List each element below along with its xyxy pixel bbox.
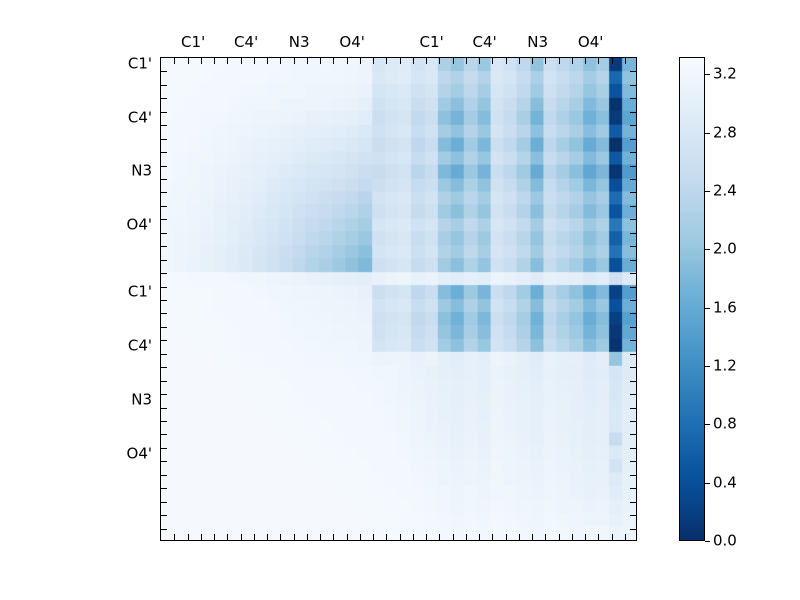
x-tick [479, 58, 480, 64]
y-tick [161, 246, 167, 247]
y-tick [161, 381, 167, 382]
x-tick [280, 534, 281, 540]
colorbar-tick-label: 2.8 [713, 125, 737, 140]
y-tick [630, 125, 636, 126]
x-tick [598, 58, 599, 64]
y-tick [630, 327, 636, 328]
y-tick-label: C1' [108, 56, 152, 71]
y-tick [630, 313, 636, 314]
y-tick [630, 219, 636, 220]
y-tick-label: N3 [108, 392, 152, 407]
x-tick [241, 58, 242, 64]
y-tick [630, 139, 636, 140]
colorbar-tick-label: 2.0 [713, 242, 737, 257]
x-tick [386, 58, 387, 64]
x-tick [492, 58, 493, 64]
x-tick [585, 58, 586, 64]
y-tick [630, 179, 636, 180]
x-tick [519, 534, 520, 540]
y-tick [630, 152, 636, 153]
x-tick [333, 58, 334, 64]
y-tick [161, 287, 167, 288]
x-tick [347, 58, 348, 64]
x-tick [227, 534, 228, 540]
x-tick [413, 534, 414, 540]
y-tick [630, 367, 636, 368]
x-tick [241, 534, 242, 540]
y-tick [161, 71, 167, 72]
x-tick-label: C4' [234, 35, 258, 50]
y-tick [630, 421, 636, 422]
y-tick [630, 287, 636, 288]
x-tick [333, 534, 334, 540]
colorbar-tick [705, 249, 710, 250]
x-tick-label: N3 [289, 35, 310, 50]
x-tick [214, 534, 215, 540]
x-tick [386, 534, 387, 540]
y-tick [630, 448, 636, 449]
colorbar-tick [705, 483, 710, 484]
colorbar-tick-label: 2.4 [713, 184, 737, 199]
y-tick-label: O4' [108, 446, 152, 461]
y-tick [161, 354, 167, 355]
x-tick [307, 534, 308, 540]
x-tick [294, 534, 295, 540]
y-tick [161, 327, 167, 328]
x-tick [360, 58, 361, 64]
y-tick [161, 98, 167, 99]
y-tick [161, 206, 167, 207]
colorbar-tick [705, 191, 710, 192]
y-tick [161, 233, 167, 234]
y-tick [630, 488, 636, 489]
y-tick [630, 260, 636, 261]
y-tick [161, 461, 167, 462]
colorbar-tick [705, 541, 710, 542]
x-tick-label: C1' [181, 35, 205, 50]
x-tick [347, 534, 348, 540]
y-tick [630, 502, 636, 503]
y-tick-label: O4' [108, 218, 152, 233]
y-tick [630, 381, 636, 382]
y-tick [161, 529, 167, 530]
heatmap-image[interactable] [161, 58, 636, 540]
x-tick [320, 58, 321, 64]
y-tick-label: C4' [108, 110, 152, 125]
y-tick [161, 421, 167, 422]
y-tick [630, 71, 636, 72]
x-tick [612, 534, 613, 540]
x-tick [373, 534, 374, 540]
x-tick [174, 58, 175, 64]
colorbar-tick-label: 3.2 [713, 67, 737, 82]
y-tick [161, 85, 167, 86]
y-tick [161, 260, 167, 261]
y-tick [161, 434, 167, 435]
colorbar-tick [705, 308, 710, 309]
x-tick [267, 58, 268, 64]
y-tick [161, 515, 167, 516]
colorbar-tick-label: 0.0 [713, 534, 737, 549]
x-tick [400, 58, 401, 64]
x-tick [519, 58, 520, 64]
x-tick [174, 534, 175, 540]
y-tick [161, 273, 167, 274]
x-tick [545, 58, 546, 64]
x-tick [585, 534, 586, 540]
colorbar-gradient [680, 58, 704, 540]
colorbar-tick-label: 1.2 [713, 359, 737, 374]
colorbar-gradient-box [679, 57, 705, 541]
y-tick [630, 85, 636, 86]
x-tick-label: O4' [339, 35, 364, 50]
x-tick [254, 534, 255, 540]
y-tick [161, 192, 167, 193]
y-tick [161, 488, 167, 489]
x-tick [360, 534, 361, 540]
y-tick [630, 206, 636, 207]
y-tick [161, 367, 167, 368]
x-tick-label: C1' [420, 35, 444, 50]
y-tick [161, 166, 167, 167]
x-tick [373, 58, 374, 64]
x-tick [572, 58, 573, 64]
x-tick [559, 58, 560, 64]
y-tick [161, 475, 167, 476]
y-tick [161, 179, 167, 180]
x-tick [532, 58, 533, 64]
colorbar-tick [705, 366, 710, 367]
x-tick [227, 58, 228, 64]
y-tick [161, 502, 167, 503]
x-tick [426, 58, 427, 64]
y-tick [630, 529, 636, 530]
x-tick-label: N3 [527, 35, 548, 50]
y-tick [630, 273, 636, 274]
y-tick [161, 394, 167, 395]
x-tick [267, 534, 268, 540]
x-tick [201, 534, 202, 540]
x-tick [466, 534, 467, 540]
y-tick [630, 475, 636, 476]
x-tick [188, 58, 189, 64]
y-tick [630, 98, 636, 99]
y-tick [630, 192, 636, 193]
colorbar-tick-label: 0.8 [713, 417, 737, 432]
y-tick [630, 408, 636, 409]
colorbar-tick [705, 133, 710, 134]
heatmap-figure: C1'C4'N3O4'C1'C4'N3O4' C1'C4'N3O4'C1'C4'… [0, 0, 800, 600]
y-tick [161, 139, 167, 140]
x-tick [506, 534, 507, 540]
x-tick [294, 58, 295, 64]
y-tick [630, 354, 636, 355]
x-tick [466, 58, 467, 64]
colorbar-tick [705, 424, 710, 425]
x-tick [572, 534, 573, 540]
x-tick-label: O4' [578, 35, 603, 50]
x-tick [214, 58, 215, 64]
x-tick-label: C4' [473, 35, 497, 50]
colorbar-tick [705, 74, 710, 75]
x-tick [413, 58, 414, 64]
colorbar[interactable]: 0.00.40.81.21.62.02.42.83.2 [679, 57, 705, 541]
x-tick [280, 58, 281, 64]
y-tick [630, 112, 636, 113]
y-tick-label: C1' [108, 285, 152, 300]
x-tick [254, 58, 255, 64]
y-tick [630, 233, 636, 234]
x-tick [479, 534, 480, 540]
colorbar-tick-label: 1.6 [713, 300, 737, 315]
x-tick [453, 58, 454, 64]
y-tick-label: C4' [108, 339, 152, 354]
y-tick [161, 340, 167, 341]
colorbar-tick-label: 0.4 [713, 475, 737, 490]
x-tick [439, 534, 440, 540]
y-tick [161, 300, 167, 301]
y-tick [630, 166, 636, 167]
x-tick [625, 534, 626, 540]
y-tick-label: N3 [108, 164, 152, 179]
x-tick [400, 534, 401, 540]
x-tick [559, 534, 560, 540]
x-tick [598, 534, 599, 540]
x-tick [439, 58, 440, 64]
y-tick [630, 340, 636, 341]
x-tick [492, 534, 493, 540]
x-tick [545, 534, 546, 540]
x-tick [506, 58, 507, 64]
x-tick [320, 534, 321, 540]
x-tick [625, 58, 626, 64]
y-tick [630, 394, 636, 395]
y-tick [161, 152, 167, 153]
y-tick [161, 408, 167, 409]
x-tick [201, 58, 202, 64]
heatmap-plot-area[interactable] [160, 57, 637, 541]
x-tick [307, 58, 308, 64]
y-tick [630, 246, 636, 247]
y-tick [161, 112, 167, 113]
y-tick [630, 461, 636, 462]
y-tick [161, 313, 167, 314]
y-tick [161, 448, 167, 449]
x-tick [612, 58, 613, 64]
y-tick [630, 434, 636, 435]
y-tick [630, 300, 636, 301]
x-tick [426, 534, 427, 540]
x-tick [453, 534, 454, 540]
x-tick [188, 534, 189, 540]
y-tick [161, 219, 167, 220]
x-tick [532, 534, 533, 540]
y-tick [161, 125, 167, 126]
y-tick [630, 515, 636, 516]
